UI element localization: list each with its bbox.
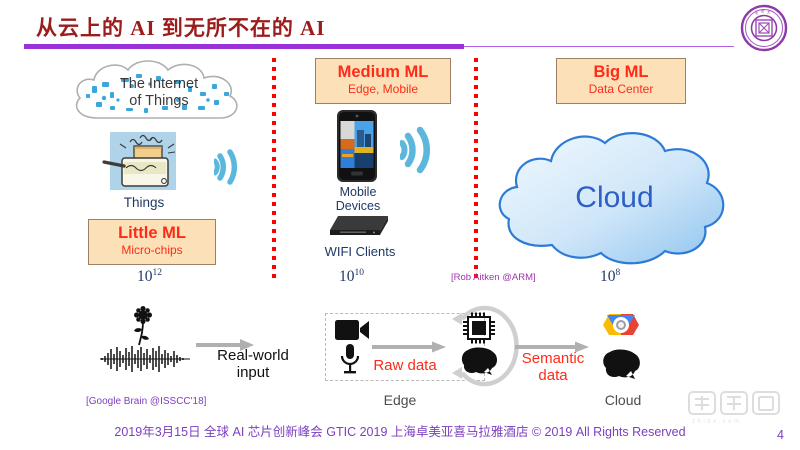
title-rule-thick xyxy=(24,44,464,49)
semantic-line2: data xyxy=(538,367,567,384)
smartphone-icon xyxy=(337,110,377,182)
little-ml-box: Little ML Micro-chips xyxy=(88,219,216,265)
google-brain-credit: [Google Brain @ISSCC'18] xyxy=(86,396,206,407)
real-world-input-label: Real-world input xyxy=(198,347,308,381)
column-2-caption-mobile: Mobile Devices xyxy=(312,185,404,213)
column-1-count: 1012 xyxy=(137,268,162,286)
svg-text:京: 京 xyxy=(761,9,764,14)
separator-2 xyxy=(474,58,478,280)
wifi-waves-2-icon xyxy=(400,122,446,183)
semantic-line1: Semantic xyxy=(522,350,585,367)
medium-ml-title: Medium ML xyxy=(316,63,450,82)
separator-1 xyxy=(272,58,276,280)
chip-icon xyxy=(462,312,496,344)
arm-credit: [Rob Aitken @ARM] xyxy=(451,272,536,283)
audio-waveform-icon xyxy=(100,345,190,373)
column-3-count: 108 xyxy=(600,268,620,286)
medium-ml-box: Medium ML Edge, Mobile xyxy=(315,58,451,104)
slide-canvas: 从云上的 AI 到无所不在的 AI 北京大 xyxy=(0,0,800,450)
edge-stage-label: Edge xyxy=(345,392,455,408)
wifi-waves-1-icon xyxy=(214,143,254,196)
medium-ml-subtitle: Edge, Mobile xyxy=(316,82,450,97)
count-3-exp: 8 xyxy=(616,268,621,278)
semantic-data-label: Semantic data xyxy=(508,350,598,384)
zhidx-watermark-icon: zhidx.com xyxy=(686,388,782,428)
cloud-stage-label: Cloud xyxy=(568,392,678,408)
page-number: 4 xyxy=(777,428,784,442)
big-ml-subtitle: Data Center xyxy=(557,82,685,97)
svg-text:zhidx.com: zhidx.com xyxy=(692,419,742,425)
count-3-base: 10 xyxy=(600,268,616,285)
flower-icon xyxy=(125,305,167,347)
big-ml-title: Big ML xyxy=(557,63,685,82)
camera-icon xyxy=(335,318,369,342)
big-ml-box: Big ML Data Center xyxy=(556,58,686,104)
column-2-count: 1010 xyxy=(339,268,364,286)
count-2-exp: 10 xyxy=(355,268,365,278)
google-cloud-logo-icon xyxy=(602,312,640,346)
footer-text: 2019年3月15日 全球 AI 芯片创新峰会 GTIC 2019 上海卓美亚喜… xyxy=(0,421,800,440)
column-1-caption: Things xyxy=(100,196,188,210)
page-title: 从云上的 AI 到无所不在的 AI xyxy=(36,12,325,42)
little-ml-subtitle: Micro-chips xyxy=(89,243,215,258)
real-world-line1: Real-world xyxy=(217,347,289,364)
brain-icon-cloud xyxy=(601,348,643,380)
iot-cloud-icon xyxy=(66,56,252,130)
count-2-base: 10 xyxy=(339,268,355,285)
little-ml-title: Little ML xyxy=(89,224,215,243)
cloud-shape-icon xyxy=(497,125,732,270)
count-1-exp: 12 xyxy=(153,268,163,278)
toaster-icon xyxy=(100,126,186,198)
real-world-line2: input xyxy=(237,364,270,381)
brain-icon-edge xyxy=(460,346,500,376)
column-2-caption-wifi: WIFI Clients xyxy=(310,245,410,259)
mobile-line1: Mobile xyxy=(340,185,377,199)
wifi-router-icon xyxy=(326,210,392,240)
university-seal-icon: 北京大 xyxy=(740,4,788,52)
count-1-base: 10 xyxy=(137,268,153,285)
arrow-raw-data-icon xyxy=(372,340,446,358)
